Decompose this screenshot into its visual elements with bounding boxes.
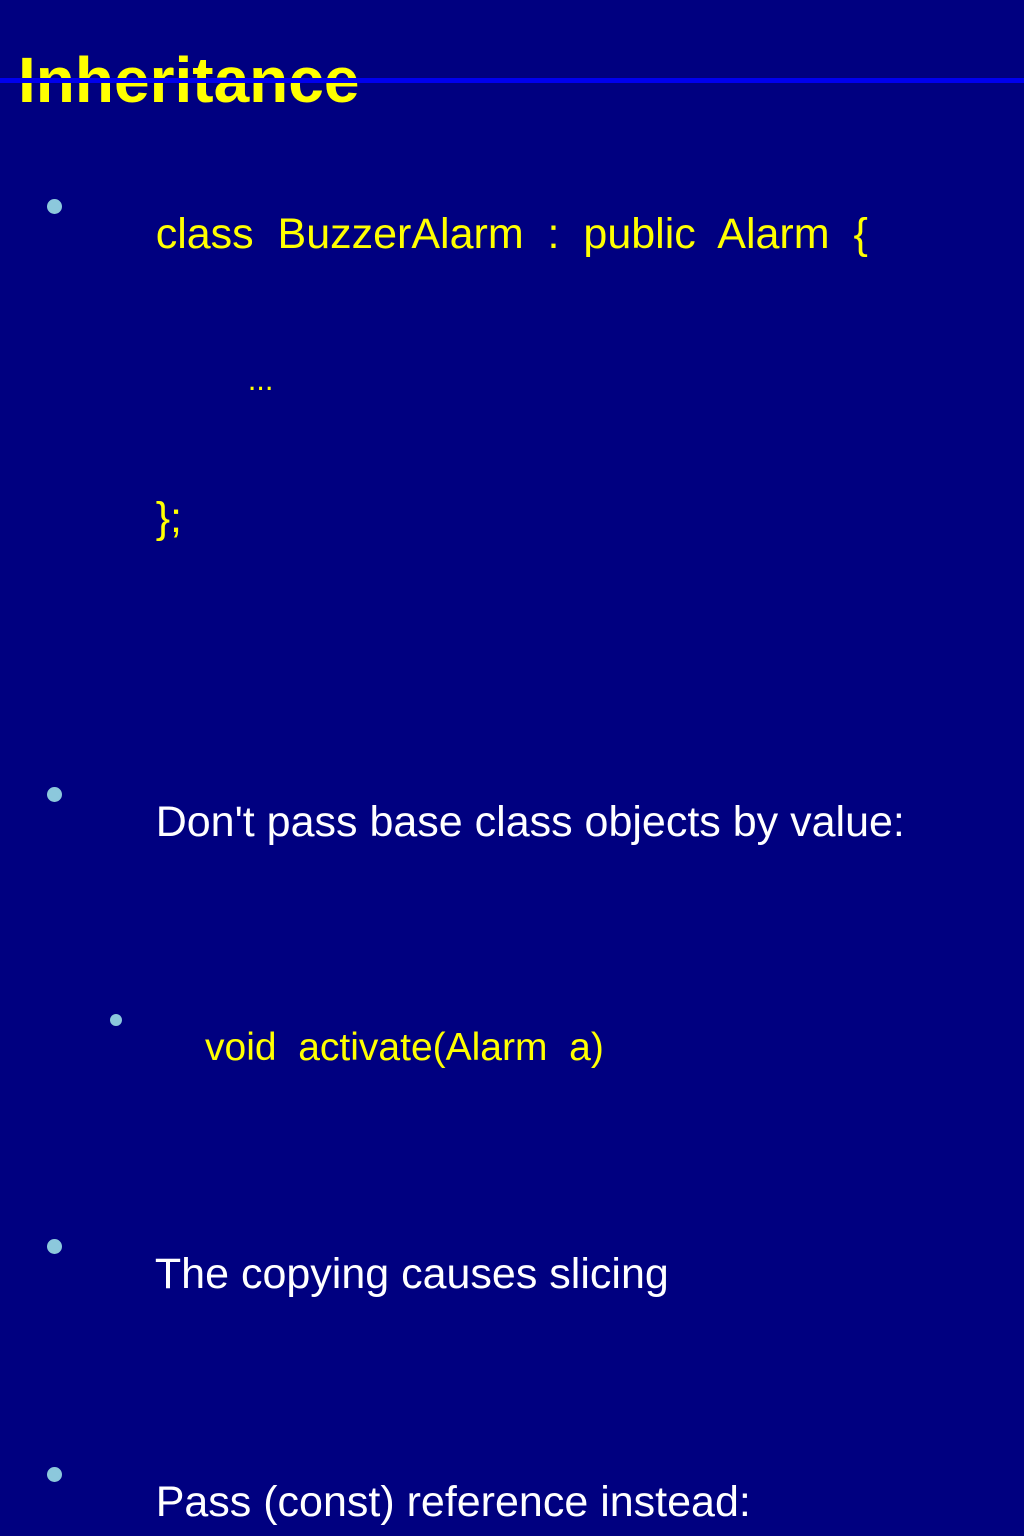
bullet-item: Don't pass base class objects by value: xyxy=(0,680,1024,908)
slide-body: class BuzzerAlarm : public Alarm { ... }… xyxy=(0,92,1024,1536)
bullet-item: Pass (const) reference instead: xyxy=(0,1360,1024,1536)
title-divider-rule xyxy=(0,78,1024,83)
sub-bullet-item: void activate(Alarm a) xyxy=(0,908,1024,1132)
bullet-item: The copying causes slicing xyxy=(0,1132,1024,1360)
presentation-slide: Inheritance class BuzzerAlarm : public A… xyxy=(0,0,1024,768)
vertical-spacer xyxy=(0,596,1024,680)
bullet-dot-icon xyxy=(47,1467,62,1482)
bullet-dot-icon xyxy=(47,1239,62,1254)
sub-bullet-dot-icon xyxy=(110,1014,122,1026)
bullet-dot-icon xyxy=(47,787,62,802)
bullet-text: The copying causes slicing xyxy=(155,1250,669,1298)
bullet-text: Pass (const) reference instead: xyxy=(156,1478,751,1526)
code-continuation-ellipsis: ... xyxy=(0,320,1024,440)
bullet-item: class BuzzerAlarm : public Alarm { xyxy=(0,92,1024,320)
bullet-text: Don't pass base class objects by value: xyxy=(156,798,905,846)
code-text: }; xyxy=(156,494,182,542)
bullet-text: class BuzzerAlarm : public Alarm { xyxy=(156,210,868,258)
bullet-dot-icon xyxy=(47,199,62,214)
code-continuation-closing-brace: }; xyxy=(0,440,1024,596)
sub-bullet-text: void activate(Alarm a) xyxy=(205,1026,604,1069)
code-text: ... xyxy=(248,362,274,397)
